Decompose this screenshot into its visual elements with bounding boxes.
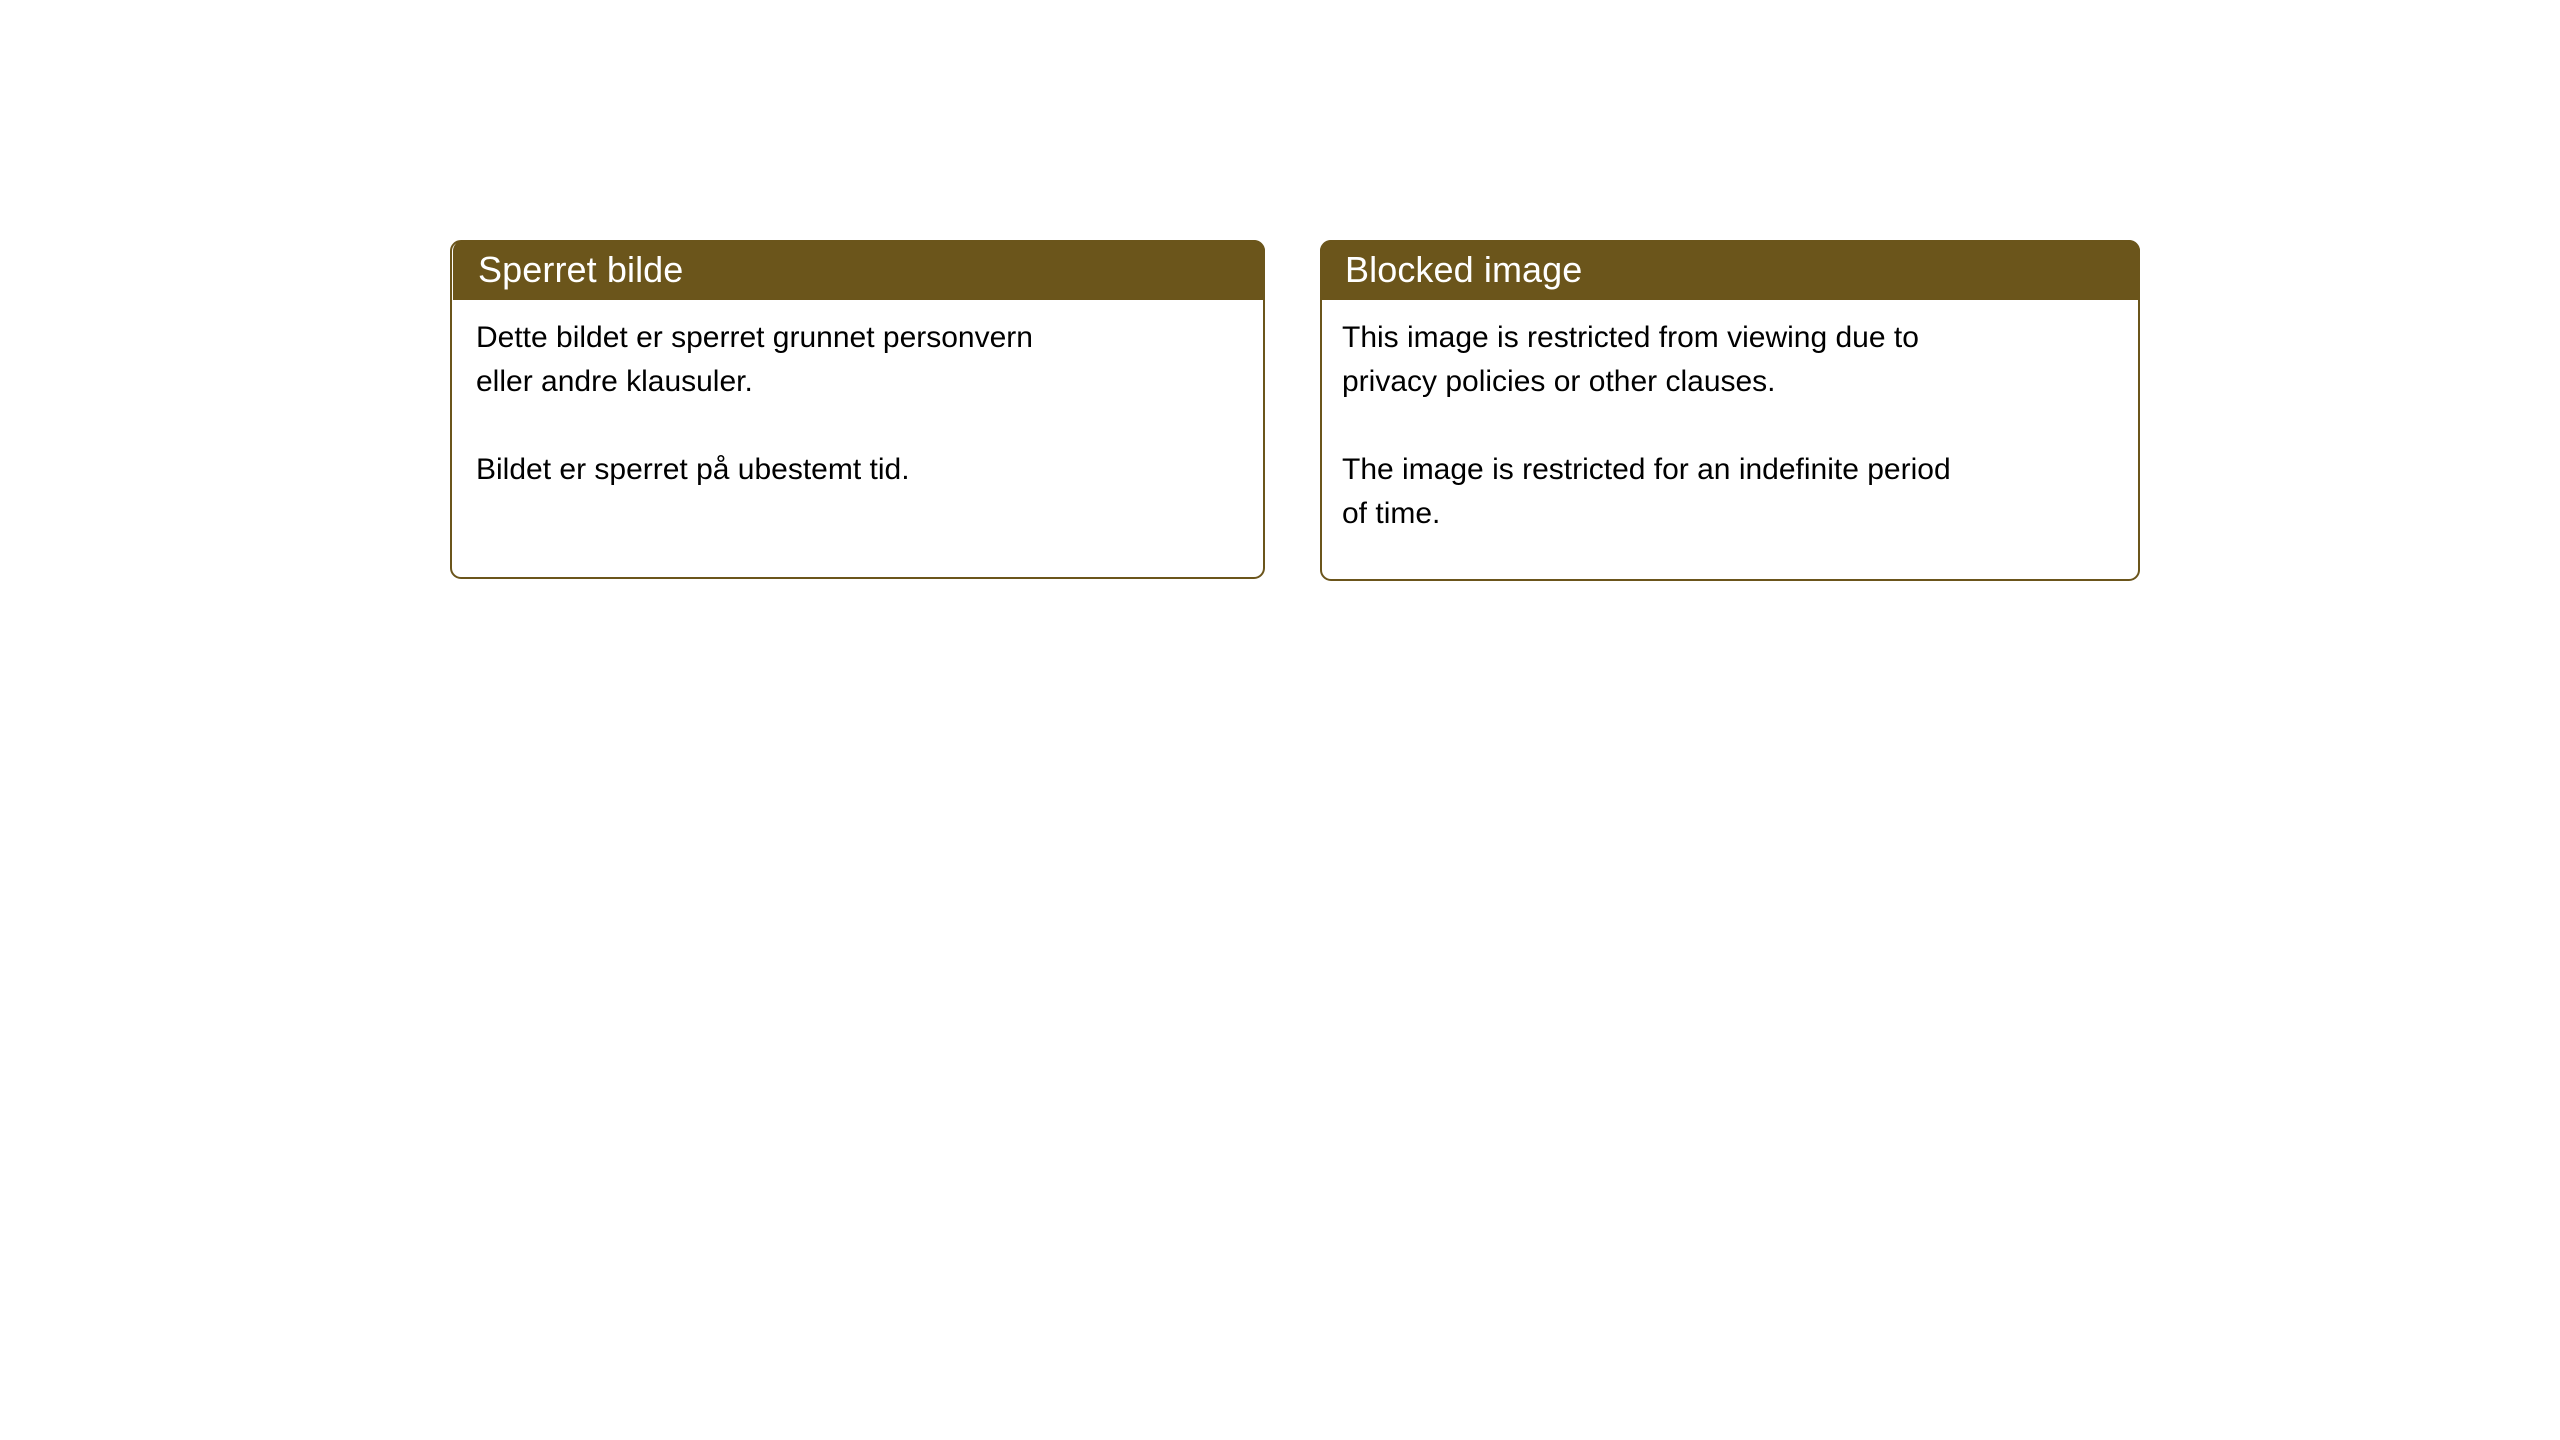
card-content-en: This image is restricted from viewing du… [1320,316,2140,536]
blocked-image-notice-no: Sperret bilde Dette bildet er sperret gr… [450,240,1265,579]
paragraph-spacer-no [476,404,1245,448]
card-title-en: Blocked image [1345,250,1582,290]
card-header-en: Blocked image [1320,240,2140,300]
page-canvas: Sperret bilde Dette bildet er sperret gr… [0,0,2560,1440]
blocked-image-notice-en: Blocked image This image is restricted f… [1320,240,2140,581]
paragraph-spacer-en [1342,404,2120,448]
card-content-no: Dette bildet er sperret grunnet personve… [450,316,1265,492]
card-paragraph-secondary-en: The image is restricted for an indefinit… [1342,448,2120,536]
card-header-no: Sperret bilde [453,240,1265,300]
card-paragraph-primary-no: Dette bildet er sperret grunnet personve… [476,316,1245,404]
card-title-no: Sperret bilde [478,250,683,290]
card-paragraph-secondary-no: Bildet er sperret på ubestemt tid. [476,448,1245,492]
card-paragraph-primary-en: This image is restricted from viewing du… [1342,316,2120,404]
